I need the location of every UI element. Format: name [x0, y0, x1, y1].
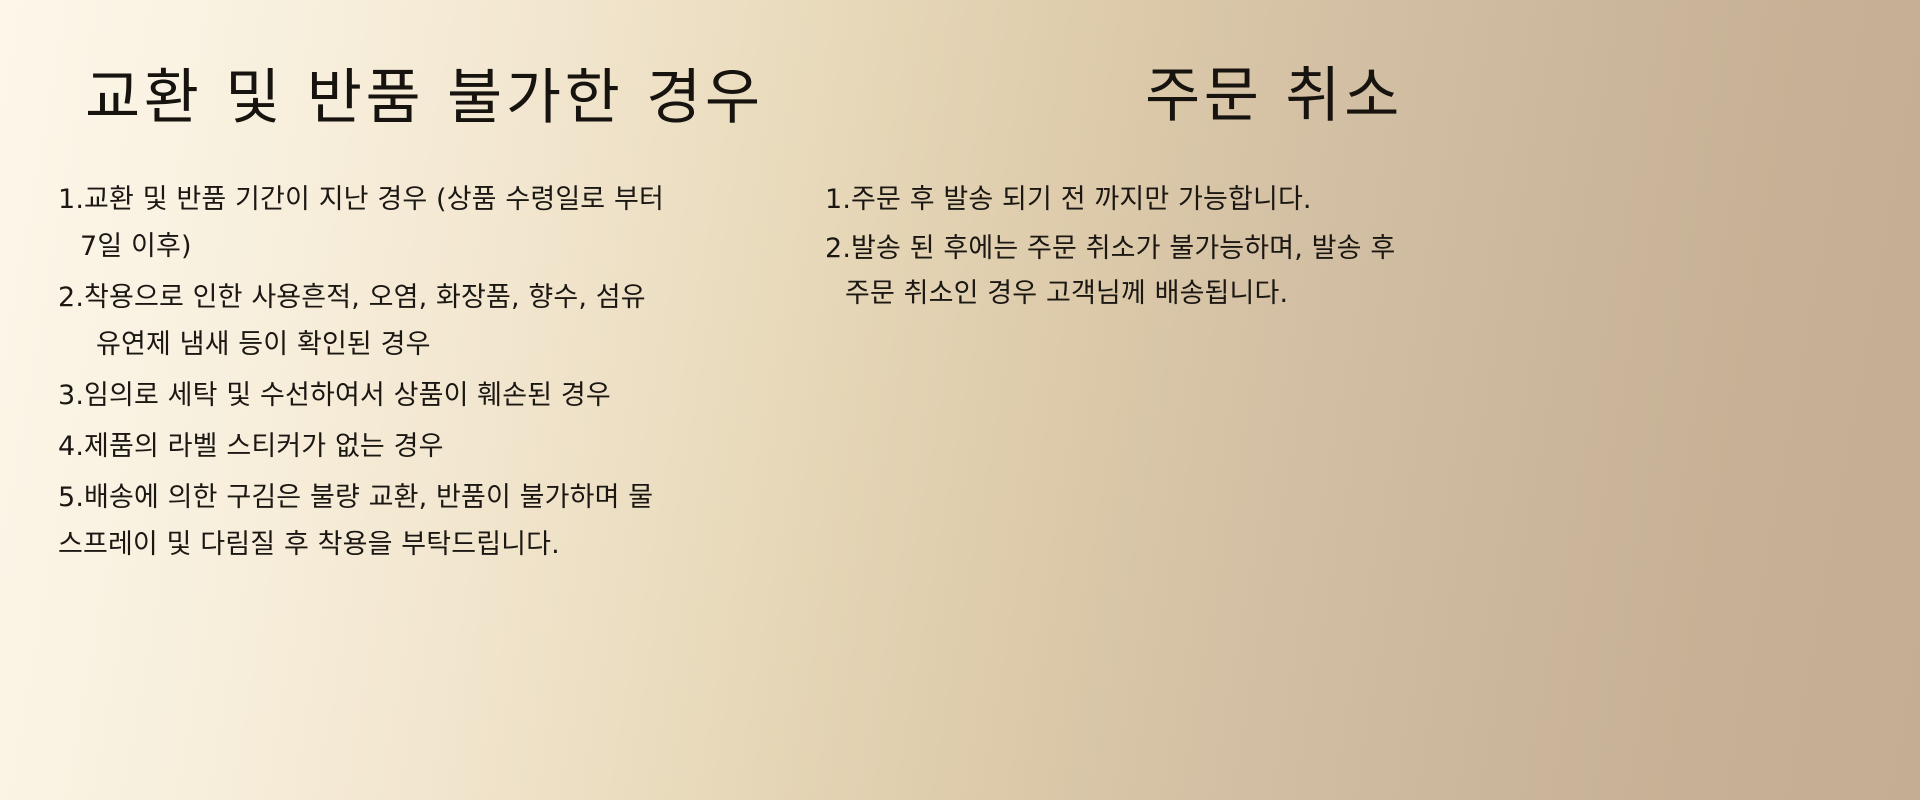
- policy-line-continuation: 7일 이후): [58, 233, 778, 260]
- policy-line: 3.임의로 세탁 및 수선하여서 상품이 훼손된 경우: [58, 382, 778, 409]
- policy-line: 1.주문 후 발송 되기 전 까지만 가능합니다.: [825, 186, 1525, 213]
- exchange-policy-list: 1.교환 및 반품 기간이 지난 경우 (상품 수령일로 부터 7일 이후) 2…: [58, 186, 778, 582]
- policy-line-continuation: 스프레이 및 다림질 후 착용을 부탁드립니다.: [58, 531, 778, 558]
- policy-line: 2.발송 된 후에는 주문 취소가 불가능하며, 발송 후: [825, 235, 1525, 262]
- list-item: 5.배송에 의한 구김은 불량 교환, 반품이 불가하며 물 스프레이 및 다림…: [58, 484, 778, 558]
- cancel-policy-column: 주문 취소 1.주문 후 발송 되기 전 까지만 가능합니다. 2.발송 된 후…: [960, 0, 1920, 800]
- policy-line: 2.착용으로 인한 사용흔적, 오염, 화장품, 향수, 섬유: [58, 284, 778, 311]
- cancel-policy-heading: 주문 취소: [1145, 60, 1403, 132]
- policy-line: 4.제품의 라벨 스티커가 없는 경우: [58, 433, 778, 460]
- policy-line-continuation: 주문 취소인 경우 고객님께 배송됩니다.: [825, 280, 1525, 307]
- list-item: 3.임의로 세탁 및 수선하여서 상품이 훼손된 경우: [58, 382, 778, 409]
- policy-notice-canvas: 교환 및 반품 불가한 경우 1.교환 및 반품 기간이 지난 경우 (상품 수…: [0, 0, 1920, 800]
- policy-line: 5.배송에 의한 구김은 불량 교환, 반품이 불가하며 물: [58, 484, 778, 511]
- list-item: 1.주문 후 발송 되기 전 까지만 가능합니다.: [825, 186, 1525, 213]
- list-item: 2.착용으로 인한 사용흔적, 오염, 화장품, 향수, 섬유 유연제 냄새 등…: [58, 284, 778, 358]
- list-item: 4.제품의 라벨 스티커가 없는 경우: [58, 433, 778, 460]
- list-item: 2.발송 된 후에는 주문 취소가 불가능하며, 발송 후 주문 취소인 경우 …: [825, 235, 1525, 307]
- policy-line-continuation: 유연제 냄새 등이 확인된 경우: [58, 331, 778, 358]
- exchange-policy-heading: 교환 및 반품 불가한 경우: [85, 62, 764, 134]
- exchange-policy-column: 교환 및 반품 불가한 경우 1.교환 및 반품 기간이 지난 경우 (상품 수…: [0, 0, 960, 800]
- cancel-policy-list: 1.주문 후 발송 되기 전 까지만 가능합니다. 2.발송 된 후에는 주문 …: [825, 186, 1525, 329]
- list-item: 1.교환 및 반품 기간이 지난 경우 (상품 수령일로 부터 7일 이후): [58, 186, 778, 260]
- policy-line: 1.교환 및 반품 기간이 지난 경우 (상품 수령일로 부터: [58, 186, 778, 213]
